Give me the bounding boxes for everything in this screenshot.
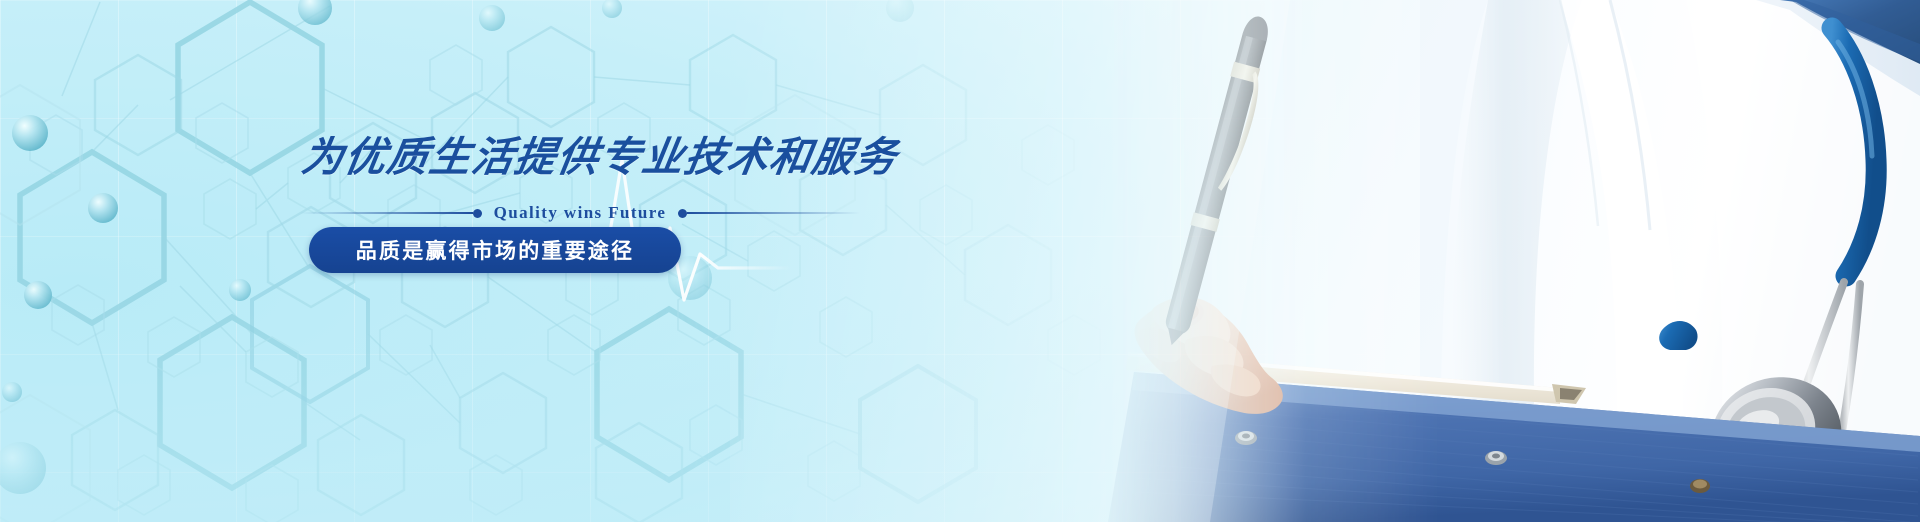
dot-marker-icon [678, 209, 687, 218]
tagline-rule-right [687, 212, 860, 214]
banner-copy: 为优质生活提供专业技术和服务 Quality wins Future 品质是赢得… [0, 0, 1000, 522]
dot-marker-icon [473, 209, 482, 218]
doctor-with-clipboard-photo-icon [1090, 0, 1920, 522]
slogan-pill: 品质是赢得市场的重要途径 [309, 227, 681, 273]
page-title: 为优质生活提供专业技术和服务 [298, 123, 903, 183]
hero-banner: 为优质生活提供专业技术和服务 Quality wins Future 品质是赢得… [0, 0, 1920, 522]
slogan-text: 品质是赢得市场的重要途径 [356, 235, 634, 265]
tagline-rule-left [300, 212, 473, 214]
tagline-english: Quality wins Future [482, 203, 679, 223]
tagline-row: Quality wins Future [300, 200, 860, 226]
